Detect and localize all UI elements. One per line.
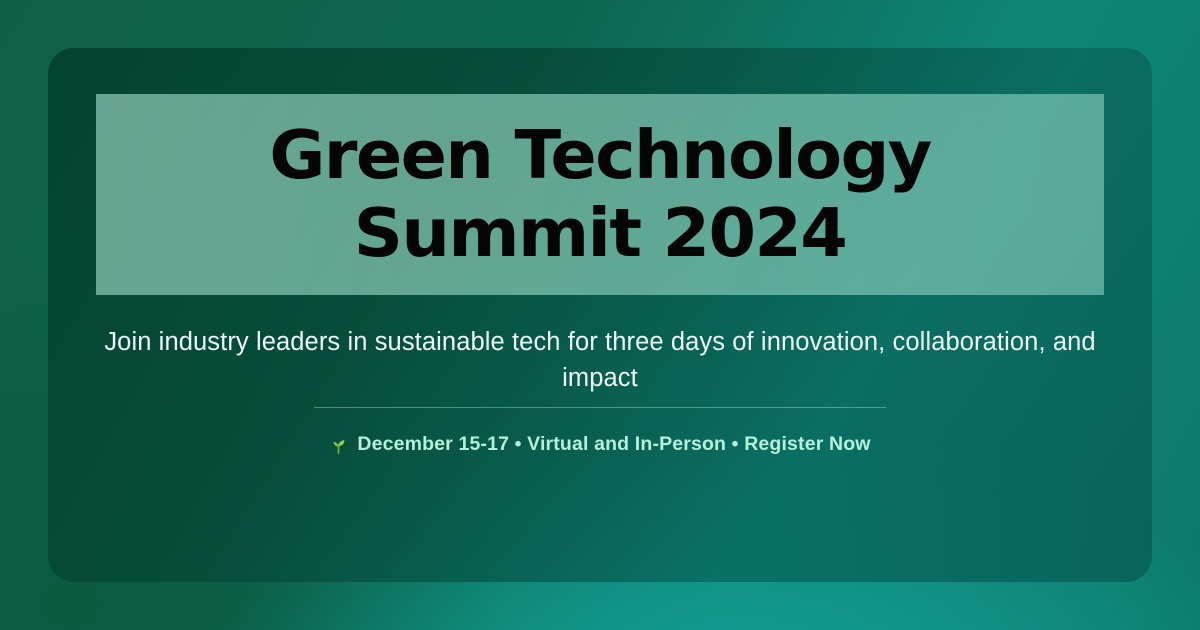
title-line-1: Green Technology — [269, 116, 930, 194]
title-line-2: Summit 2024 — [354, 194, 846, 272]
seedling-icon — [329, 436, 348, 455]
page-title: Green Technology Summit 2024 — [86, 117, 1114, 272]
event-meta: December 15-17 • Virtual and In-Person •… — [95, 433, 1105, 456]
section-divider — [314, 407, 886, 408]
event-subtitle: Join industry leaders in sustainable tec… — [95, 324, 1105, 396]
content-card: Green Technology Summit 2024 Join indust… — [48, 48, 1152, 582]
title-banner: Green Technology Summit 2024 — [96, 94, 1104, 295]
event-meta-text: December 15-17 • Virtual and In-Person •… — [357, 433, 870, 456]
promo-banner-page: { "event": { "title_line_1": "Green Tech… — [0, 0, 1200, 630]
